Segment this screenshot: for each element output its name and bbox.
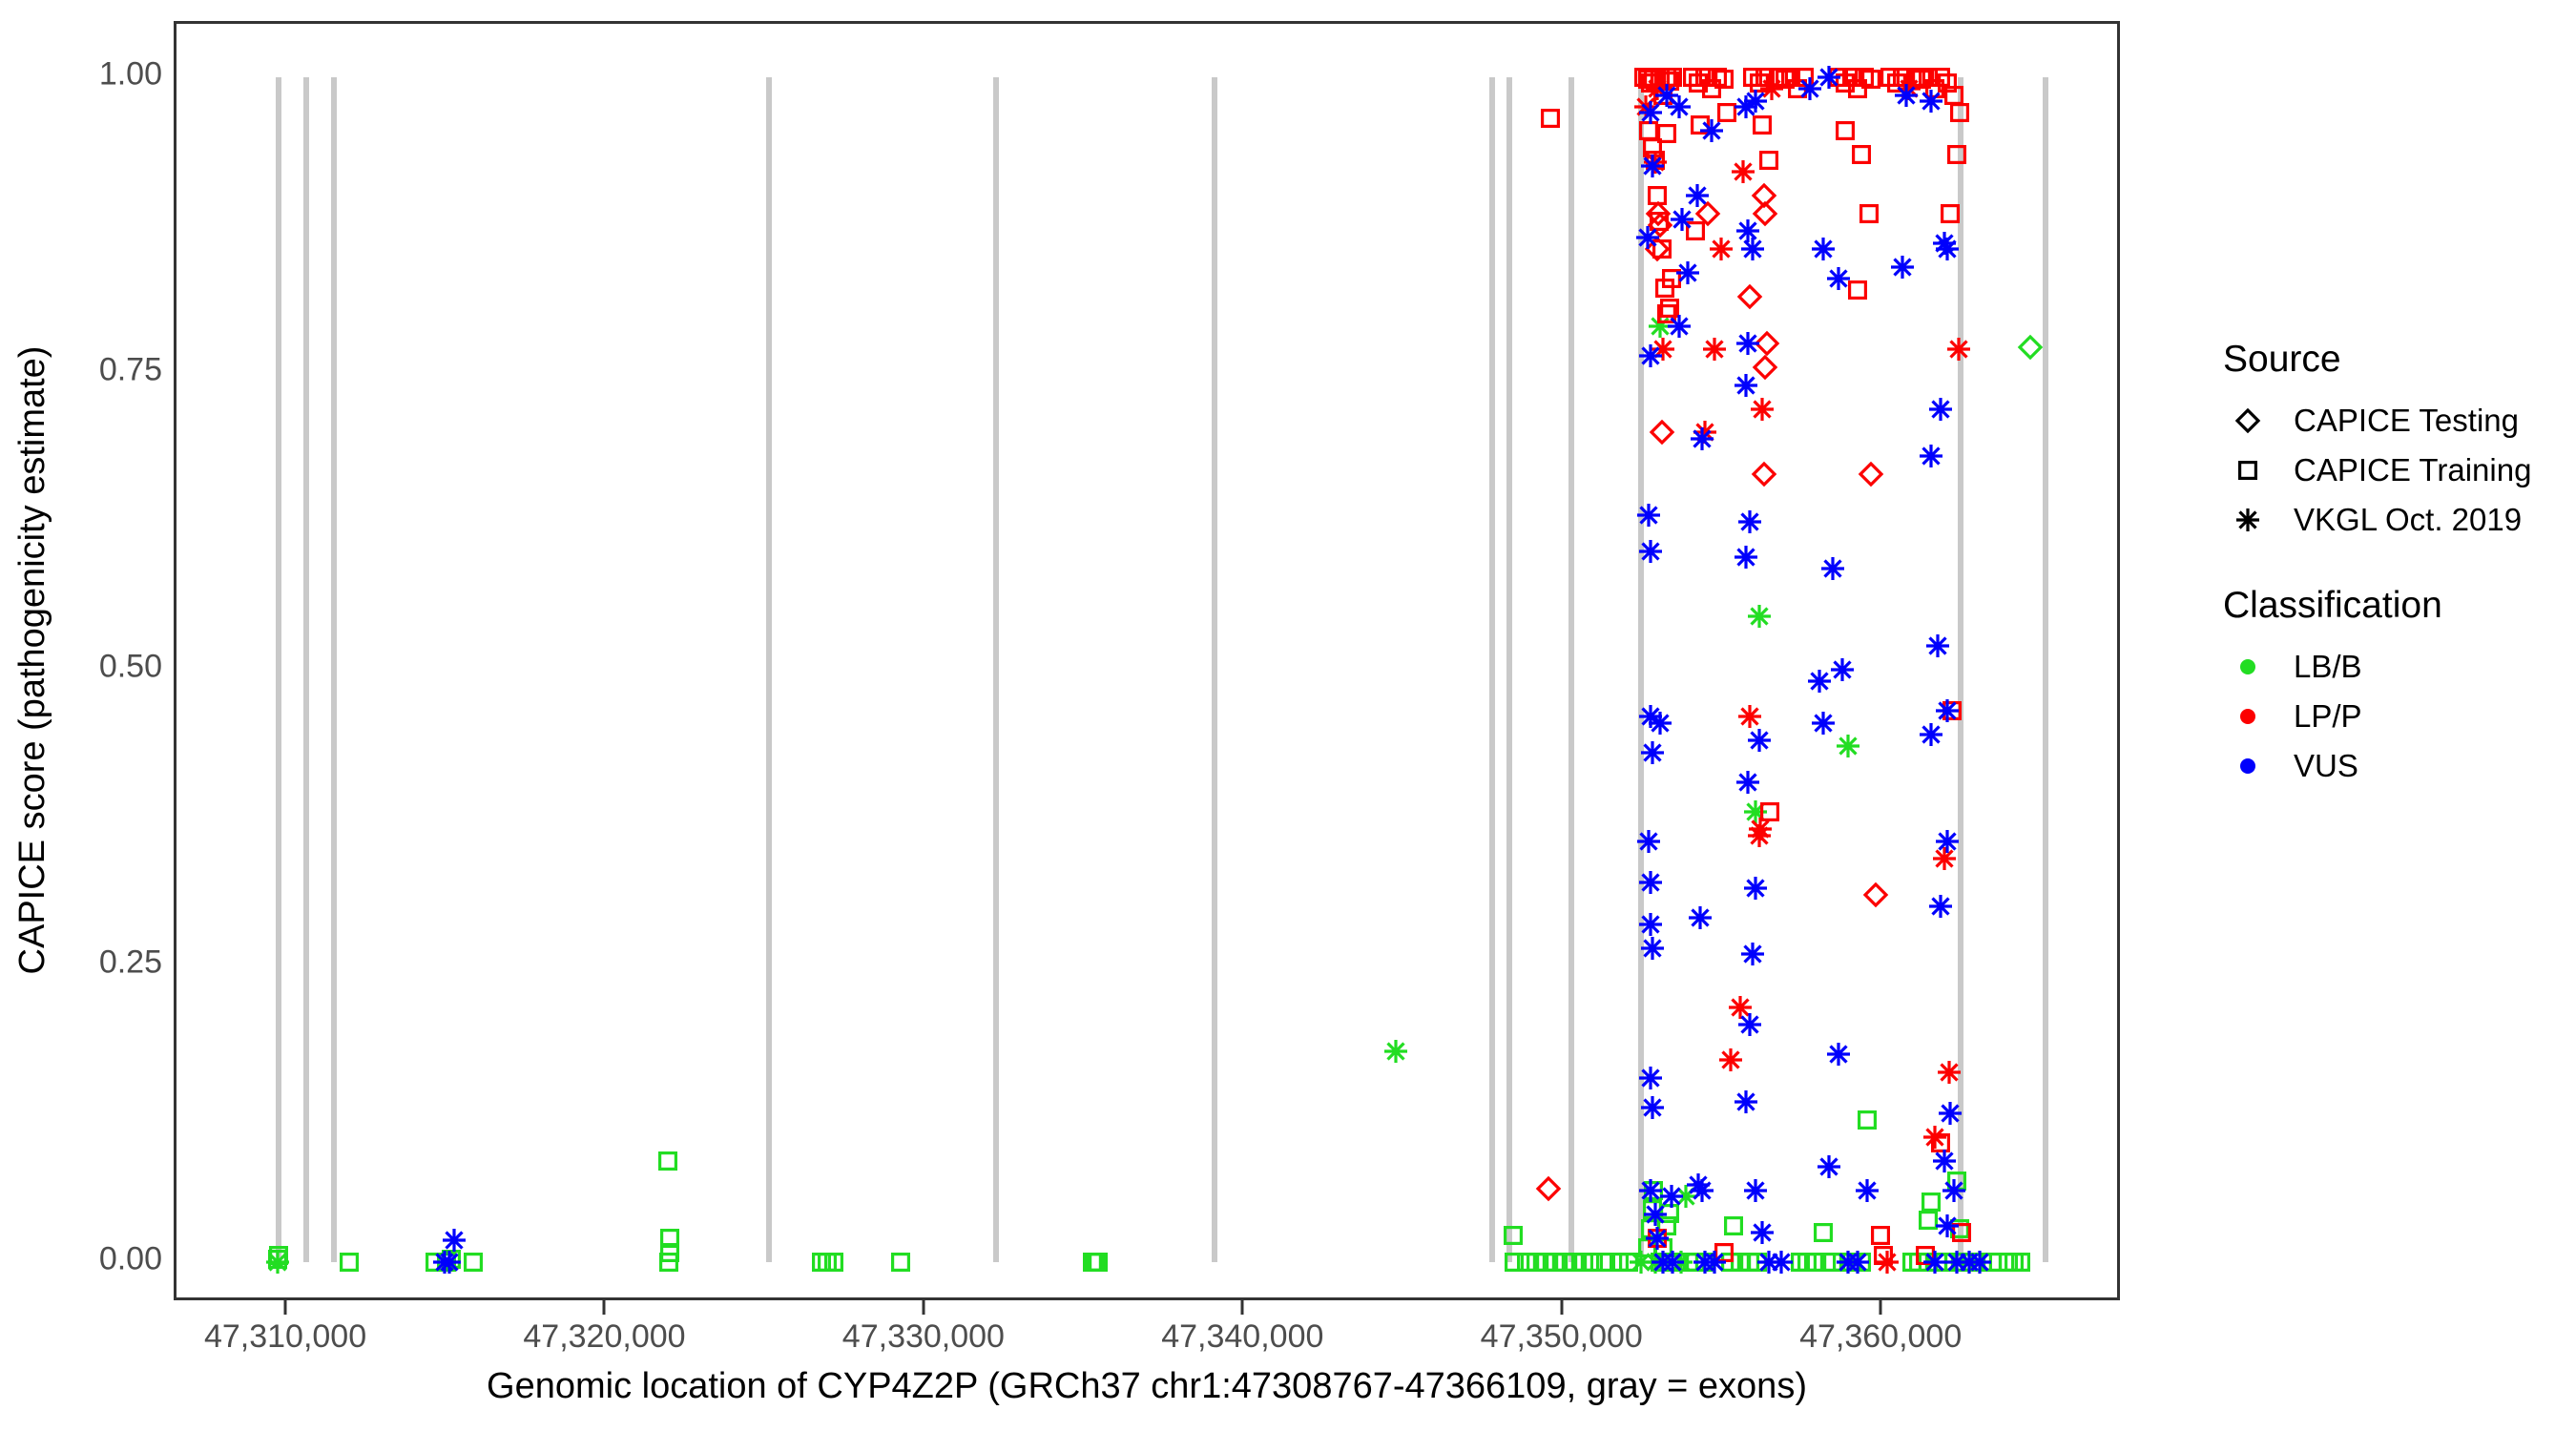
data-point xyxy=(1737,1250,1762,1275)
asterisk-marker-icon xyxy=(2223,495,2273,545)
x-tick-mark xyxy=(1241,1300,1244,1315)
y-tick-label: 0.50 xyxy=(57,648,162,685)
data-point xyxy=(1769,1250,1794,1275)
data-point xyxy=(1752,462,1776,487)
exon-band xyxy=(1638,77,1644,1262)
data-point xyxy=(1657,1201,1682,1226)
y-tick-label: 1.00 xyxy=(57,55,162,93)
data-point xyxy=(1935,698,1960,723)
data-point xyxy=(1740,237,1765,261)
circle-marker-icon xyxy=(2223,741,2273,791)
data-point xyxy=(1868,1223,1893,1248)
data-point xyxy=(1859,67,1883,92)
data-point xyxy=(1932,1250,1957,1275)
data-point xyxy=(1718,1250,1743,1275)
data-point xyxy=(1669,1250,1693,1275)
data-point xyxy=(1731,159,1755,184)
data-point xyxy=(1845,278,1870,302)
data-point xyxy=(1894,83,1919,108)
data-point xyxy=(1935,71,1960,95)
data-point xyxy=(1660,1250,1685,1275)
exon-band xyxy=(303,77,309,1262)
exon-band xyxy=(276,77,281,1262)
data-point xyxy=(1849,1250,1874,1275)
data-point xyxy=(434,1250,459,1275)
data-point xyxy=(1852,65,1877,90)
data-point xyxy=(1750,397,1775,422)
x-tick-mark xyxy=(922,1300,924,1315)
data-point xyxy=(1654,65,1679,90)
data-point xyxy=(1811,711,1836,736)
data-point xyxy=(1753,65,1777,90)
x-axis-title: Genomic location of CYP4Z2P (GRCh37 chr1… xyxy=(174,1366,2120,1407)
data-point xyxy=(1756,148,1781,173)
data-point xyxy=(1919,722,1943,747)
data-point xyxy=(1705,65,1730,90)
data-point xyxy=(1750,113,1775,137)
y-axis-title: CAPICE score (pathogenicity estimate) xyxy=(6,2,59,1318)
data-point xyxy=(337,1250,362,1275)
data-point xyxy=(1693,65,1717,90)
x-tick-label: 47,360,000 xyxy=(1799,1318,1962,1356)
data-point xyxy=(1654,121,1679,146)
data-point xyxy=(1728,995,1753,1020)
data-point xyxy=(1919,89,1943,114)
data-point xyxy=(1766,65,1791,90)
data-point xyxy=(1916,1208,1941,1233)
data-point xyxy=(1928,1130,1953,1155)
data-point xyxy=(1683,218,1708,243)
data-point xyxy=(1660,65,1685,90)
legend-item-label: CAPICE Training xyxy=(2294,452,2531,488)
data-point xyxy=(1652,276,1677,301)
data-point xyxy=(1728,1250,1753,1275)
x-tick-mark xyxy=(284,1300,287,1315)
data-point xyxy=(1753,201,1777,226)
data-point xyxy=(1648,65,1672,90)
data-point xyxy=(1673,1184,1698,1209)
data-point xyxy=(1709,237,1734,261)
data-point xyxy=(657,1226,682,1251)
data-point xyxy=(1086,1250,1111,1275)
data-point xyxy=(1845,1250,1870,1275)
data-point xyxy=(1646,201,1671,226)
data-point xyxy=(1745,1250,1770,1275)
data-point xyxy=(1747,728,1772,753)
y-axis-ticks: 0.000.250.500.751.00 xyxy=(57,0,162,1317)
data-point xyxy=(1734,545,1758,570)
data-point xyxy=(1645,76,1670,101)
data-point xyxy=(1607,1250,1631,1275)
data-point xyxy=(1817,1154,1841,1179)
data-point xyxy=(1737,1012,1762,1037)
data-point xyxy=(1759,76,1784,101)
data-point xyxy=(656,1250,681,1275)
data-point xyxy=(1928,397,1953,422)
data-point xyxy=(1996,1250,2021,1275)
data-point xyxy=(888,1250,913,1275)
data-point xyxy=(1778,65,1803,90)
data-point xyxy=(1833,71,1858,95)
plot-panel xyxy=(174,21,2120,1300)
data-point xyxy=(1817,65,1841,90)
x-tick-label: 47,310,000 xyxy=(204,1318,366,1356)
data-point xyxy=(1792,65,1817,90)
data-point xyxy=(1648,314,1672,339)
data-point xyxy=(1820,556,1845,581)
data-point xyxy=(439,1247,464,1272)
legend-item[interactable]: LB/B xyxy=(2223,642,2576,692)
data-point xyxy=(1714,100,1739,125)
data-point xyxy=(1747,823,1772,848)
data-point xyxy=(1083,1250,1108,1275)
data-point xyxy=(1928,65,1953,90)
data-point xyxy=(1685,183,1710,208)
data-point xyxy=(1932,231,1957,256)
x-axis-tick-labels: 47,310,00047,320,00047,330,00047,340,000… xyxy=(174,1318,2120,1362)
plot-area xyxy=(177,24,2117,1297)
data-point xyxy=(1922,1250,1947,1275)
data-point xyxy=(1659,266,1684,291)
data-point xyxy=(1593,1250,1618,1275)
data-point xyxy=(1826,266,1851,291)
exon-band xyxy=(2043,77,2048,1262)
data-point xyxy=(1734,94,1758,119)
data-point xyxy=(815,1250,840,1275)
data-point xyxy=(423,1250,447,1275)
y-tick-label: 0.75 xyxy=(57,352,162,389)
data-point xyxy=(1970,1250,1995,1275)
data-point xyxy=(1581,1250,1606,1275)
data-point xyxy=(1871,1243,1896,1268)
data-point xyxy=(1676,1250,1701,1275)
data-point xyxy=(1906,1250,1931,1275)
data-point xyxy=(1533,1250,1558,1275)
legend-item[interactable]: CAPICE Testing xyxy=(2223,396,2576,446)
data-point xyxy=(1734,1089,1758,1114)
exon-band xyxy=(1506,77,1512,1262)
data-point xyxy=(1747,71,1772,95)
data-point xyxy=(1735,331,1760,356)
data-point xyxy=(1657,69,1682,93)
data-point xyxy=(1651,337,1675,362)
exon-band xyxy=(1212,77,1217,1262)
legend-items-classification: LB/BLP/PVUS xyxy=(2223,642,2576,791)
data-point xyxy=(821,1250,846,1275)
data-point xyxy=(1820,1250,1845,1275)
data-point xyxy=(1699,118,1724,143)
legend-group-classification: Classification LB/BLP/PVUS xyxy=(2223,585,2576,791)
data-point xyxy=(1631,65,1656,90)
data-point xyxy=(1737,509,1762,534)
data-point xyxy=(1757,799,1782,824)
data-point xyxy=(1935,1213,1960,1238)
data-point xyxy=(809,1250,834,1275)
data-point xyxy=(2002,1250,2026,1275)
data-point xyxy=(1683,1250,1708,1275)
data-point xyxy=(1747,604,1772,629)
data-point xyxy=(1657,296,1682,321)
data-point xyxy=(1650,420,1674,445)
data-point xyxy=(1743,1178,1768,1203)
data-point xyxy=(1833,118,1858,143)
data-point xyxy=(1641,65,1666,90)
legend-item-label: CAPICE Testing xyxy=(2294,403,2519,439)
data-point xyxy=(1859,462,1883,487)
data-point xyxy=(1650,237,1674,261)
data-point xyxy=(1693,420,1717,445)
y-tick-label: 0.25 xyxy=(57,944,162,982)
data-point xyxy=(1752,183,1776,208)
data-point xyxy=(1743,89,1768,114)
data-point xyxy=(432,1250,457,1275)
data-point xyxy=(1849,142,1874,167)
data-point xyxy=(1501,1223,1526,1248)
data-point xyxy=(1643,1250,1668,1275)
data-point xyxy=(1951,1250,1976,1275)
data-point xyxy=(461,1250,486,1275)
data-point xyxy=(1680,65,1705,90)
data-point xyxy=(1651,1250,1675,1275)
data-point xyxy=(1755,331,1779,356)
diamond-marker-icon xyxy=(2223,396,2273,446)
data-point xyxy=(1836,1250,1860,1275)
x-tick-label: 47,350,000 xyxy=(1481,1318,1643,1356)
data-point xyxy=(1670,207,1694,232)
data-point xyxy=(1645,1226,1670,1251)
data-point xyxy=(1536,1176,1561,1201)
circle-marker-icon xyxy=(2223,692,2273,741)
data-point xyxy=(1811,237,1836,261)
data-point xyxy=(1932,846,1957,871)
exon-band xyxy=(331,77,337,1262)
data-point xyxy=(1737,284,1762,309)
data-point xyxy=(1855,1178,1880,1203)
data-point xyxy=(1690,426,1714,451)
data-point xyxy=(1693,1250,1717,1275)
data-point xyxy=(1935,237,1960,261)
legend-group-source: Source CAPICE TestingCAPICE TrainingVKGL… xyxy=(2223,339,2576,545)
data-point xyxy=(1647,209,1672,234)
data-point xyxy=(1884,71,1909,95)
data-point xyxy=(1753,355,1777,380)
data-point xyxy=(1538,106,1563,131)
data-point xyxy=(1641,1178,1666,1203)
data-point xyxy=(1897,76,1922,101)
data-point xyxy=(655,1149,680,1173)
data-point xyxy=(1702,1250,1727,1275)
exon-band xyxy=(993,77,999,1262)
data-point xyxy=(1667,314,1692,339)
data-point xyxy=(1967,1250,1992,1275)
data-point xyxy=(1667,94,1692,119)
data-point xyxy=(1903,65,1928,90)
data-point xyxy=(1502,1250,1527,1275)
data-point xyxy=(1756,1250,1781,1275)
legend-item-label: VUS xyxy=(2294,748,2358,784)
data-point xyxy=(1836,734,1860,758)
x-tick-mark xyxy=(1560,1300,1563,1315)
data-point xyxy=(1654,83,1679,108)
data-point xyxy=(1801,1250,1826,1275)
data-point xyxy=(1686,71,1711,95)
data-point xyxy=(1645,183,1670,208)
data-point xyxy=(1961,1250,1985,1275)
data-point xyxy=(1695,201,1720,226)
data-point xyxy=(1916,65,1941,90)
data-point xyxy=(1664,1250,1689,1275)
data-point xyxy=(1643,148,1668,173)
data-point xyxy=(1909,67,1934,92)
data-point xyxy=(1734,373,1758,398)
x-tick-label: 47,340,000 xyxy=(1161,1318,1323,1356)
data-point xyxy=(437,1250,462,1275)
data-point xyxy=(657,1240,682,1265)
data-point xyxy=(1690,1178,1714,1203)
data-point xyxy=(1712,67,1736,92)
data-point xyxy=(1645,1226,1670,1251)
circle-marker-icon xyxy=(2223,642,2273,692)
data-point xyxy=(1750,1220,1775,1245)
data-point xyxy=(1737,704,1762,729)
data-point xyxy=(1928,894,1953,919)
x-tick-label: 47,320,000 xyxy=(523,1318,685,1356)
x-axis-tick-marks xyxy=(174,1300,2120,1316)
data-point xyxy=(1740,65,1765,90)
data-point xyxy=(1712,1240,1736,1265)
data-point xyxy=(1839,1250,1864,1275)
chart-root: CAPICE score (pathogenicity estimate) 0.… xyxy=(0,0,2576,1431)
data-point xyxy=(1900,1250,1924,1275)
data-point xyxy=(2008,1250,2033,1275)
data-point xyxy=(1925,1250,1950,1275)
data-point xyxy=(1839,65,1864,90)
data-point xyxy=(1675,260,1700,285)
exon-band xyxy=(1489,77,1495,1262)
exon-band xyxy=(1568,77,1574,1262)
data-point xyxy=(1785,76,1810,101)
data-point xyxy=(1651,83,1675,108)
data-point xyxy=(1919,1190,1943,1214)
legend-item-label: VKGL Oct. 2019 xyxy=(2294,502,2522,538)
data-point xyxy=(1659,1184,1684,1209)
data-point xyxy=(1514,1250,1539,1275)
data-point xyxy=(1743,876,1768,901)
data-point xyxy=(1693,1250,1717,1275)
square-marker-icon xyxy=(2223,446,2273,495)
data-point xyxy=(1797,76,1822,101)
data-point xyxy=(1654,1213,1679,1238)
legend-item[interactable]: VKGL Oct. 2019 xyxy=(2223,495,2576,545)
legend-item[interactable]: LP/P xyxy=(2223,692,2576,741)
data-point xyxy=(1543,1250,1568,1275)
data-point xyxy=(1735,770,1760,795)
data-point xyxy=(1826,65,1851,90)
data-point xyxy=(1743,799,1768,824)
data-point xyxy=(1648,213,1672,238)
data-point xyxy=(1688,905,1713,930)
data-point xyxy=(1643,1202,1668,1227)
data-point xyxy=(1890,65,1915,90)
legend-items-source: CAPICE TestingCAPICE TrainingVKGL Oct. 2… xyxy=(2223,396,2576,545)
data-point xyxy=(1773,67,1797,92)
x-tick-label: 47,330,000 xyxy=(842,1318,1005,1356)
legend-item-label: LP/P xyxy=(2294,698,2362,735)
data-point xyxy=(1748,817,1773,841)
legend-title-classification: Classification xyxy=(2223,585,2576,627)
data-point xyxy=(1857,201,1881,226)
data-point xyxy=(1830,657,1855,682)
legend-item[interactable]: CAPICE Training xyxy=(2223,446,2576,495)
data-point xyxy=(1735,218,1760,243)
data-point xyxy=(1811,1220,1836,1245)
data-point xyxy=(1702,337,1727,362)
data-point xyxy=(1925,633,1950,658)
data-point xyxy=(1643,150,1668,175)
data-point xyxy=(1863,882,1888,907)
legend-item-label: LB/B xyxy=(2294,649,2362,685)
data-point xyxy=(1922,1125,1947,1150)
data-point xyxy=(1875,1250,1900,1275)
data-point xyxy=(2018,335,2043,360)
x-tick-mark xyxy=(603,1300,606,1315)
data-point xyxy=(1795,1250,1819,1275)
data-point xyxy=(1648,711,1672,736)
data-point xyxy=(1651,1235,1675,1260)
data-point xyxy=(1740,942,1765,966)
data-point xyxy=(1845,76,1870,101)
data-point xyxy=(1616,1250,1641,1275)
legend-title-source: Source xyxy=(2223,339,2576,381)
data-point xyxy=(1699,76,1724,101)
exon-band xyxy=(766,77,772,1262)
data-point xyxy=(1688,113,1713,137)
data-point xyxy=(1935,829,1960,854)
data-point xyxy=(1721,1213,1746,1238)
data-point xyxy=(1524,1250,1548,1275)
data-point xyxy=(1788,1250,1813,1275)
data-point xyxy=(442,1228,467,1253)
exon-band xyxy=(1958,77,1963,1262)
legend: Source CAPICE TestingCAPICE TrainingVKGL… xyxy=(2223,339,2576,831)
data-point xyxy=(1922,76,1947,101)
data-point xyxy=(1878,65,1902,90)
legend-item[interactable]: VUS xyxy=(2223,741,2576,791)
data-point xyxy=(1383,1039,1408,1064)
x-tick-mark xyxy=(1880,1300,1882,1315)
data-point xyxy=(1686,1172,1711,1197)
data-point xyxy=(1913,1243,1938,1268)
data-point xyxy=(1080,1250,1105,1275)
data-point xyxy=(1890,255,1915,280)
data-point xyxy=(1633,94,1658,119)
y-tick-label: 0.00 xyxy=(57,1240,162,1277)
data-point xyxy=(1830,1250,1855,1275)
data-point xyxy=(1648,1250,1672,1275)
data-point xyxy=(1855,1108,1880,1132)
data-point xyxy=(1718,1047,1743,1072)
data-point xyxy=(1980,1250,2005,1275)
data-point xyxy=(1919,444,1943,468)
data-point xyxy=(1932,1149,1957,1173)
data-point xyxy=(1645,237,1670,261)
data-point xyxy=(1571,1250,1596,1275)
data-point xyxy=(1826,1042,1851,1067)
data-point xyxy=(1807,669,1832,694)
data-point xyxy=(1654,301,1679,326)
